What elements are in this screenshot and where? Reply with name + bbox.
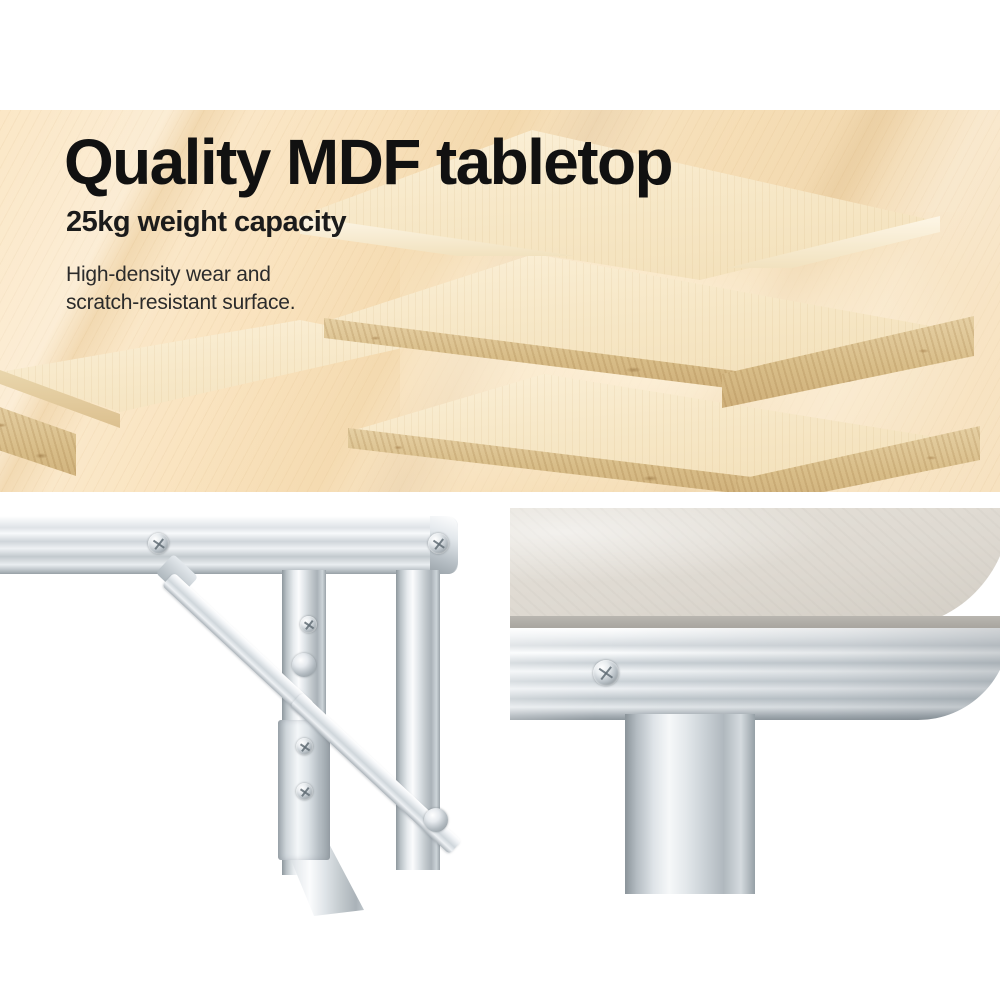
edge-band-screw-icon bbox=[593, 660, 619, 686]
table-frame-rail bbox=[0, 516, 458, 574]
hero-body-line-1: High-density wear and bbox=[66, 261, 764, 289]
hinge-pivot-middle-icon bbox=[292, 653, 316, 677]
table-leg bbox=[625, 714, 755, 894]
sleeve-screw-lower-icon bbox=[296, 783, 313, 800]
feature-panel-rounded-corners: Safe rounded corners bbox=[510, 508, 1000, 1000]
hero-body-text: High-density wear and scratch-resistant … bbox=[66, 261, 764, 316]
hinge-pivot-lower-icon bbox=[424, 808, 448, 832]
hero-body-line-2: scratch-resistant surface. bbox=[66, 289, 764, 317]
hero-copy-block: Quality MDF tabletop 25kg weight capacit… bbox=[64, 132, 764, 317]
rail-screw-left-icon bbox=[148, 533, 169, 554]
leg-screw-upper-icon bbox=[300, 616, 317, 633]
feature-panel-hinged-supports: Hinged table supports bbox=[0, 508, 494, 1000]
sleeve-screw-upper-icon bbox=[296, 738, 313, 755]
infographic-canvas: Quality MDF tabletop 25kg weight capacit… bbox=[0, 0, 1000, 1000]
hero-headline: Quality MDF tabletop bbox=[64, 132, 764, 193]
hero-subheadline: 25kg weight capacity bbox=[66, 207, 764, 239]
aluminium-edge-banding-shading bbox=[510, 628, 1000, 720]
tabletop-surface bbox=[510, 508, 1000, 628]
rail-screw-right-icon bbox=[428, 533, 449, 554]
hero-panel: Quality MDF tabletop 25kg weight capacit… bbox=[0, 110, 1000, 492]
